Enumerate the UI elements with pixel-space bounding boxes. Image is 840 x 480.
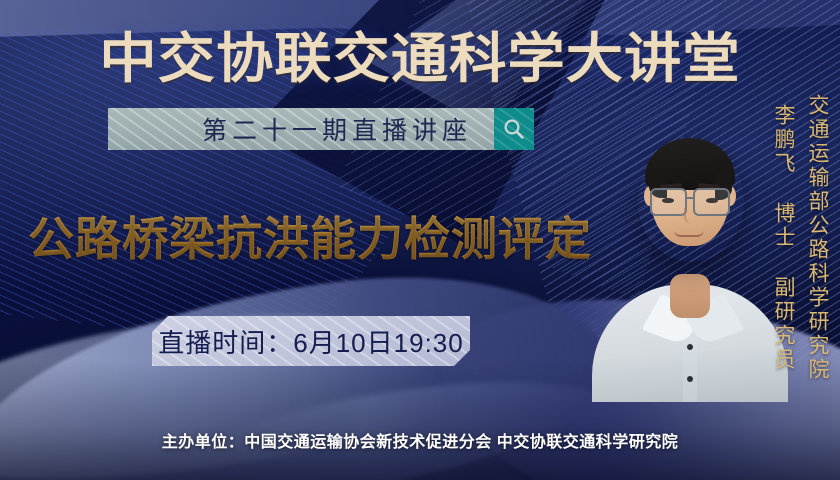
broadcast-time-text: 直播时间：6月10日19:30 [158, 323, 463, 360]
live-lecture-poster: 中交协联交通科学大讲堂 第二十一期直播讲座 公路桥梁抗洪能力检测评定 直播时间：… [0, 0, 840, 480]
portrait-neck [670, 274, 710, 318]
glasses-lens-left [650, 188, 687, 216]
page-title: 中交协联交通科学大讲堂 [0, 14, 840, 93]
subtitle-bar: 第二十一期直播讲座 [108, 108, 534, 150]
search-icon [502, 117, 526, 141]
broadcast-time-badge: 直播时间：6月10日19:30 [152, 316, 470, 366]
speaker-portrait [598, 112, 780, 402]
lecture-headline: 公路桥梁抗洪能力检测评定 [28, 203, 592, 269]
portrait-placket [683, 332, 697, 402]
speaker-name-title: 李鹏飞 博士 副研究员 [768, 104, 798, 372]
speaker-organization: 交通运输部公路科学研究院 [802, 94, 832, 382]
glasses-lens-right [693, 188, 730, 216]
subtitle-label: 第二十一期直播讲座 [202, 111, 494, 147]
portrait-mouth [674, 230, 704, 237]
portrait-nose [684, 208, 696, 224]
portrait-button [687, 344, 693, 350]
portrait-button [687, 376, 693, 382]
organizer-footer: 主办单位：中国交通运输协会新技术促进分会 中交协联交通科学研究院 [0, 428, 840, 452]
subtitle-bar-body: 第二十一期直播讲座 [108, 108, 494, 150]
glasses-bridge [685, 197, 695, 199]
search-button[interactable] [494, 108, 534, 150]
portrait-hair [645, 138, 735, 190]
